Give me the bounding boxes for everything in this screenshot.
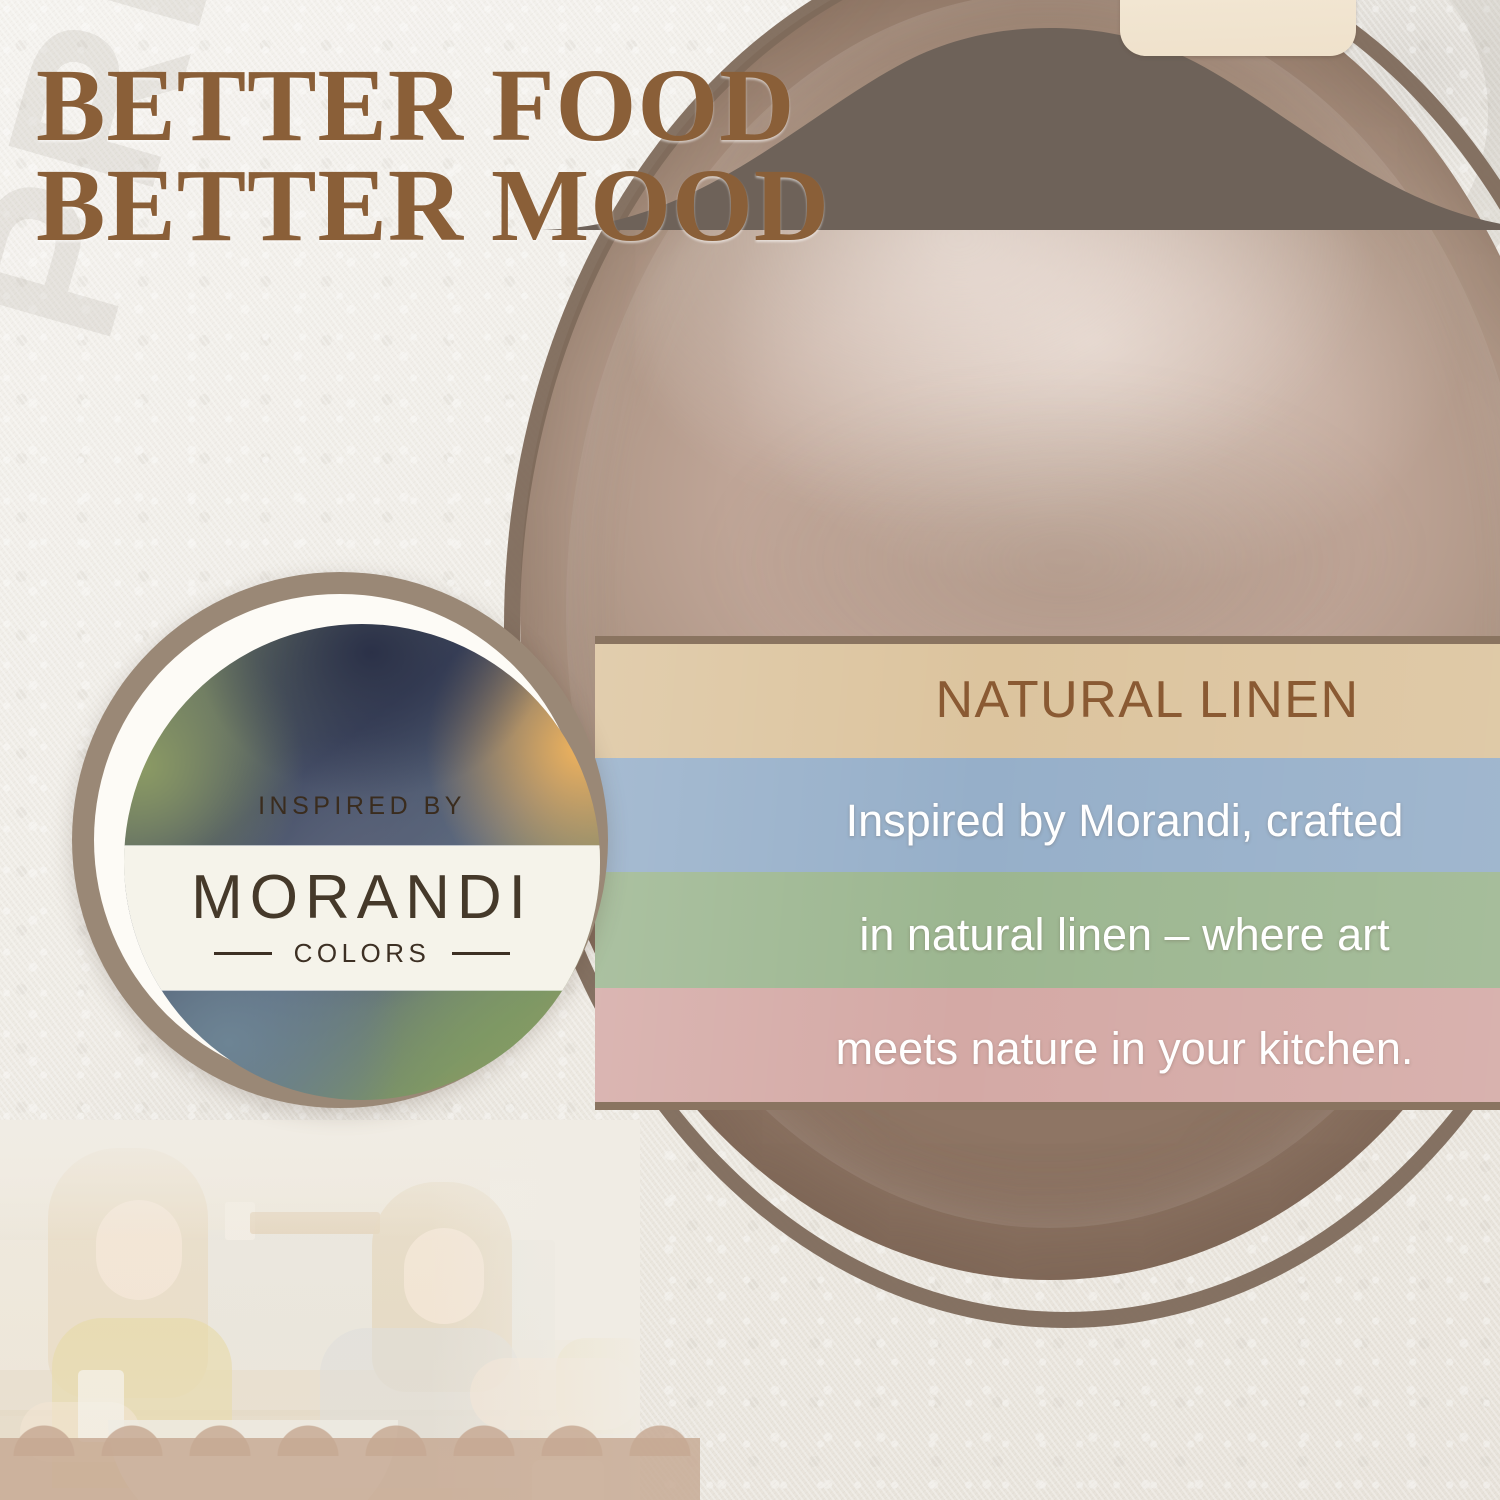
- badge-subtitle-row: COLORS: [124, 938, 600, 969]
- badge-white-ring: INSPIRED BY MORANDI COLORS: [94, 594, 586, 1086]
- panel-title: NATURAL LINEN: [595, 650, 1500, 750]
- headline-line-1: BETTER FOOD: [36, 56, 916, 156]
- badge-brand-name: MORANDI: [124, 862, 600, 934]
- badge-subtitle: COLORS: [294, 938, 431, 969]
- morandi-colors-badge: INSPIRED BY MORANDI COLORS: [72, 572, 608, 1108]
- badge-gradient-face: INSPIRED BY MORANDI COLORS: [124, 624, 600, 1100]
- panel-body-line-3: meets nature in your kitchen.: [775, 992, 1474, 1106]
- pan-handle-grip: [1120, 0, 1356, 56]
- scalloped-bottom-band: [0, 1408, 700, 1500]
- dash-right-icon: [452, 952, 510, 955]
- dash-left-icon: [214, 952, 272, 955]
- feature-text-panel: NATURAL LINEN Inspired by Morandi, craft…: [595, 636, 1500, 1110]
- page-title: BETTER FOOD BETTER MOOD: [36, 56, 916, 256]
- scallop-fill: [0, 1438, 700, 1500]
- marketing-image: PRIC: [0, 0, 1500, 1500]
- panel-body-line-1: Inspired by Morandi, crafted: [775, 764, 1474, 878]
- panel-body-text: Inspired by Morandi, crafted in natural …: [595, 764, 1500, 1106]
- panel-border-top: [595, 636, 1500, 644]
- badge-name-band: MORANDI COLORS: [124, 846, 600, 990]
- headline-line-2: BETTER MOOD: [36, 156, 916, 256]
- panel-body-line-2: in natural linen – where art: [775, 878, 1474, 992]
- badge-top-label: INSPIRED BY: [124, 792, 600, 821]
